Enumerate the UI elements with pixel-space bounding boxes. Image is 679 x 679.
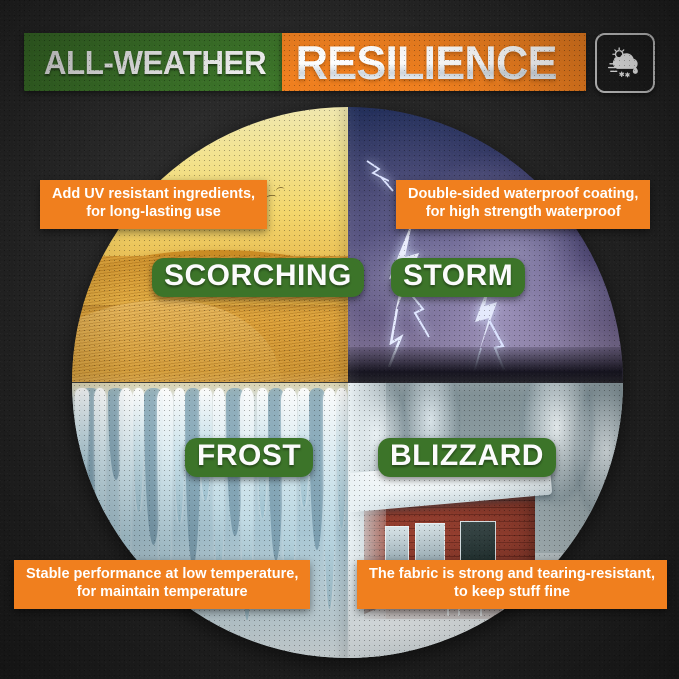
header-green-block: ALL-WEATHER — [24, 33, 282, 91]
header-title-all-weather: ALL-WEATHER — [44, 46, 266, 79]
badge-blizzard-label: BLIZZARD — [390, 441, 544, 472]
badge-scorching: SCORCHING — [152, 258, 364, 297]
badge-storm: STORM — [391, 258, 525, 297]
caption-tearing-resistant-line1: The fabric is strong and tearing-resista… — [369, 566, 655, 584]
caption-uv-resistant-line1: Add UV resistant ingredients, — [52, 186, 255, 204]
header-banner: ALL-WEATHER RESILIENCE — [24, 33, 655, 91]
caption-waterproof-coating-line2: for high strength waterproof — [408, 204, 638, 222]
caption-low-temperature: Stable performance at low temperature, f… — [14, 560, 310, 609]
header-title-resilience: RESILIENCE — [295, 39, 556, 86]
storm-horizon — [348, 347, 624, 383]
badge-frost: FROST — [185, 438, 313, 477]
caption-uv-resistant-line2: for long-lasting use — [52, 204, 255, 222]
quadrant-storm — [348, 107, 624, 383]
caption-low-temperature-line2: for maintain temperature — [26, 584, 298, 602]
quadrant-frost — [72, 383, 348, 659]
caption-waterproof-coating: Double-sided waterproof coating, for hig… — [396, 180, 650, 229]
caption-low-temperature-line1: Stable performance at low temperature, — [26, 566, 298, 584]
badge-frost-label: FROST — [197, 441, 301, 472]
quadrant-scorching — [72, 107, 348, 383]
cabin-window — [415, 523, 444, 563]
caption-waterproof-coating-line1: Double-sided waterproof coating, — [408, 186, 638, 204]
cabin-window — [385, 526, 409, 561]
quadrant-blizzard — [348, 383, 624, 659]
badge-storm-label: STORM — [403, 261, 513, 292]
poster-root: ALL-WEATHER RESILIENCE — [0, 0, 679, 679]
weather-sun-cloud-rain-snow-icon — [595, 33, 655, 93]
header-orange-block: RESILIENCE — [282, 33, 586, 91]
badge-scorching-label: SCORCHING — [164, 261, 352, 292]
caption-tearing-resistant: The fabric is strong and tearing-resista… — [357, 560, 667, 609]
caption-uv-resistant: Add UV resistant ingredients, for long-l… — [40, 180, 267, 229]
badge-blizzard: BLIZZARD — [378, 438, 556, 477]
icicle-cluster — [72, 388, 348, 658]
snow-left-bank — [348, 383, 387, 659]
caption-tearing-resistant-line2: to keep stuff fine — [369, 584, 655, 602]
